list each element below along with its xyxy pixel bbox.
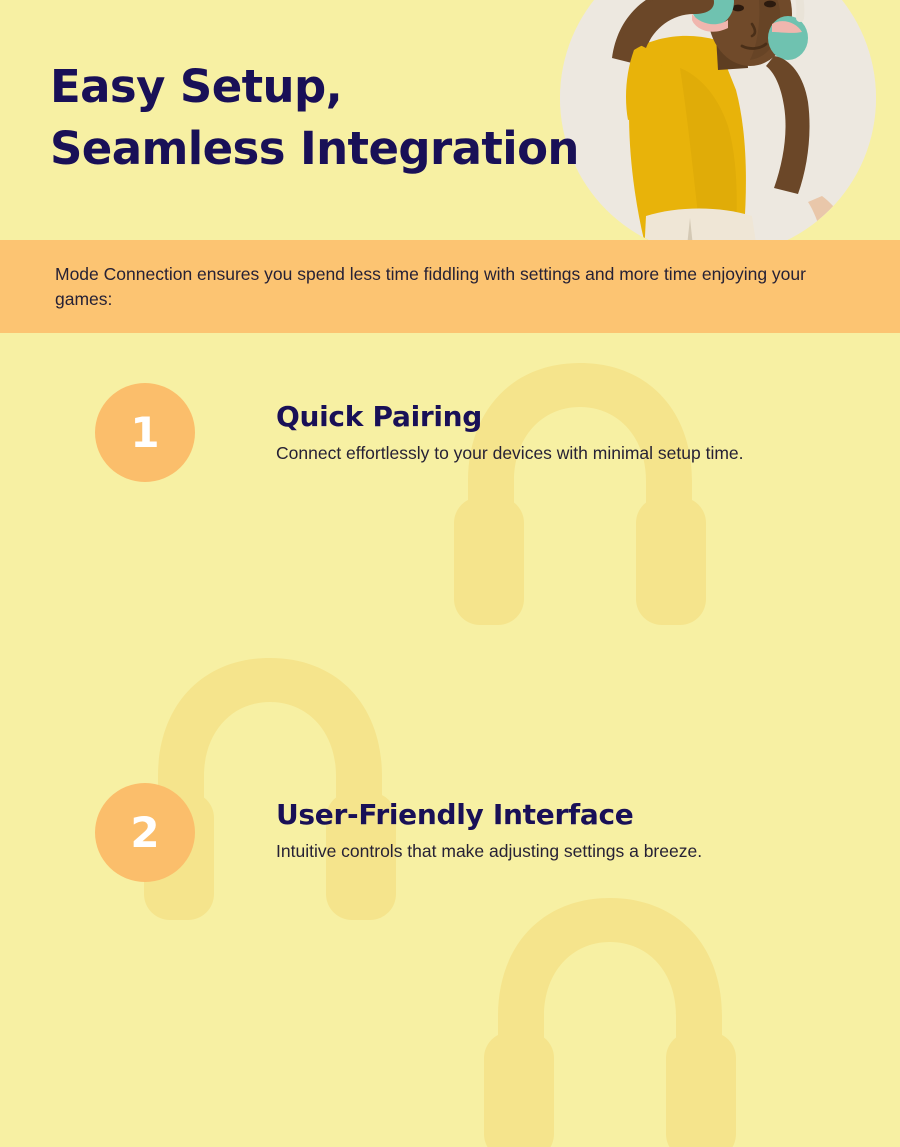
page-title: Easy Setup, Seamless Integration <box>50 56 570 180</box>
hero-photo <box>560 0 876 256</box>
list-item: 3 Multiple Connection Modes Switch betwe… <box>0 783 900 993</box>
list-item-title: Quick Pairing <box>276 397 866 437</box>
list-item: 4 Compatibility Works seamlessly with a … <box>0 993 900 1147</box>
infographic-poster: Easy Setup, Seamless Integration Mode Co… <box>0 0 900 1147</box>
feature-list: 1 Quick Pairing Connect effortlessly to … <box>0 383 900 1147</box>
intro-text: Mode Connection ensures you spend less t… <box>55 262 845 312</box>
list-item: 1 Quick Pairing Connect effortlessly to … <box>0 383 900 583</box>
list-item-body: Quick Pairing Connect effortlessly to yo… <box>276 397 866 465</box>
intro-band: Mode Connection ensures you spend less t… <box>0 240 900 333</box>
title-line-1: Easy Setup, <box>50 56 570 118</box>
list-item-description: Connect effortlessly to your devices wit… <box>276 442 866 465</box>
badge-number: 1 <box>130 412 159 454</box>
list-item: 2 User-Friendly Interface Intuitive cont… <box>0 583 900 783</box>
title-line-2: Seamless Integration <box>50 118 570 180</box>
number-badge: 1 <box>95 383 195 482</box>
